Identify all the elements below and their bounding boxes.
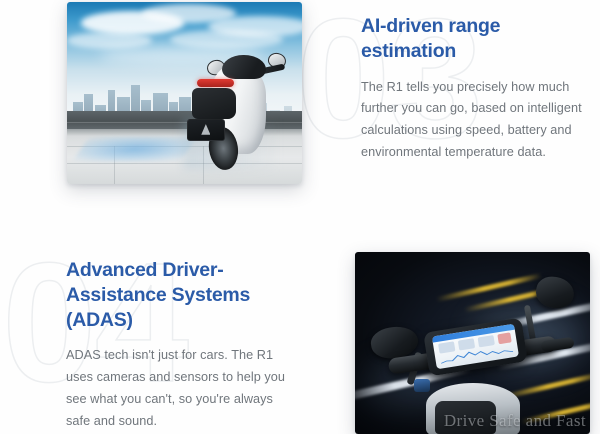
scooter-taillight — [197, 79, 234, 87]
feature-text-2: Advanced Driver-Assistance Systems (ADAS… — [66, 258, 294, 433]
image-caption-overlay: Drive Safe and Fast — [444, 411, 586, 431]
feature-title-2: Advanced Driver-Assistance Systems (ADAS… — [66, 258, 294, 332]
screen-tile — [457, 338, 475, 350]
screen-tile — [477, 335, 495, 347]
feature-body-2: ADAS tech isn't just for cars. The R1 us… — [66, 345, 294, 432]
scooter-license-plate — [187, 119, 224, 141]
feature-sections-page: 03 04 — [0, 0, 600, 434]
feature-body-1: The R1 tells you precisely how much furt… — [361, 77, 585, 164]
cloud — [67, 32, 152, 48]
feature-text-1: AI-driven range estimation The R1 tells … — [361, 14, 585, 164]
scooter-rear-panel — [192, 88, 236, 119]
screen-tile — [437, 341, 455, 353]
handlebar-switch — [414, 379, 430, 392]
dashboard-screen — [431, 324, 518, 369]
feature-image-2: Drive Safe and Fast — [355, 252, 590, 434]
feature-title-1: AI-driven range estimation — [361, 14, 585, 64]
scooter-illustration — [170, 53, 292, 173]
feature-image-card-2: Drive Safe and Fast — [355, 252, 590, 434]
screen-tile-alert — [496, 332, 511, 344]
feature-image-1 — [67, 2, 302, 184]
scooter-seat — [222, 55, 266, 79]
feature-image-card-1 — [67, 2, 302, 184]
